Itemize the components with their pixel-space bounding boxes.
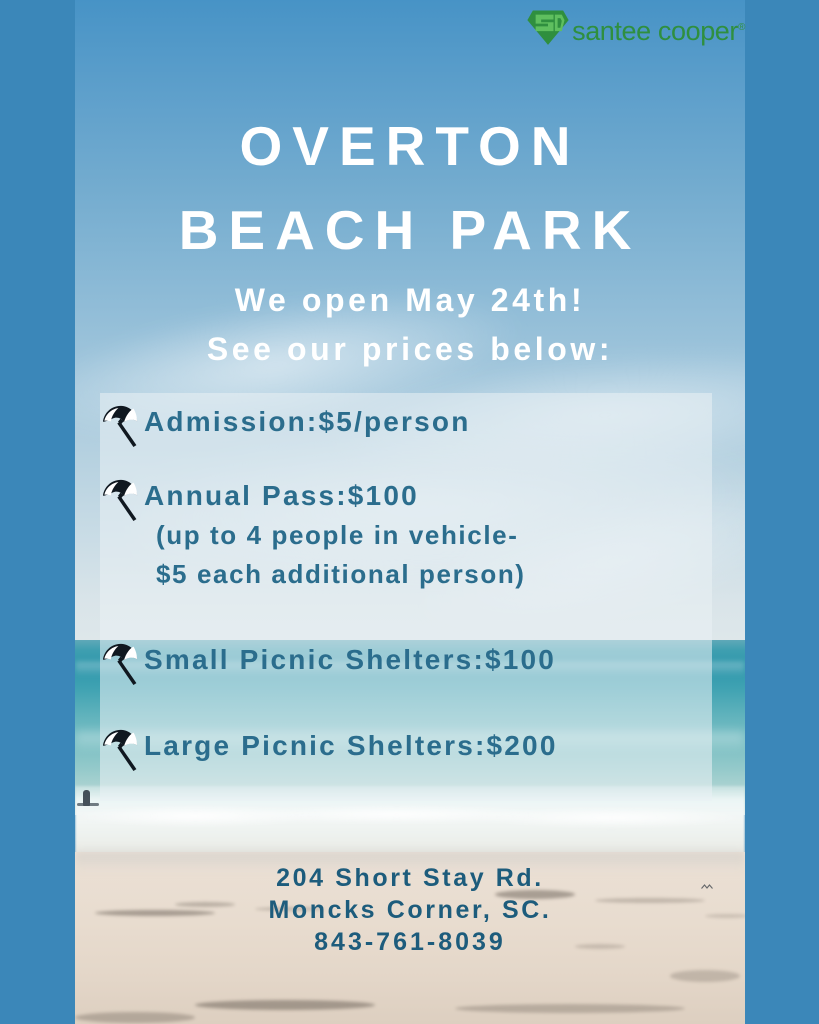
registered-mark: ® <box>738 22 745 33</box>
beach-umbrella-icon <box>100 478 142 522</box>
price-note-line-1: (up to 4 people in vehicle- <box>156 516 526 555</box>
price-note-line-2: $5 each additional person) <box>156 555 526 594</box>
subtitle-line-2: See our prices below: <box>75 325 745 374</box>
phone-number[interactable]: 843-761-8039 <box>75 926 745 958</box>
santee-cooper-logo[interactable]: santee cooper® <box>526 6 745 48</box>
price-text: Large Picnic Shelters:$200 <box>144 726 558 766</box>
price-row-admission: Admission:$5/person <box>100 402 740 448</box>
contact-info: 204 Short Stay Rd. Moncks Corner, SC. 84… <box>75 862 745 958</box>
sand-debris <box>670 970 740 982</box>
sand-debris <box>75 1012 195 1023</box>
price-label: Small Picnic Shelters:$100 <box>144 640 556 680</box>
sand-debris <box>195 1000 375 1010</box>
beach-umbrella-icon <box>100 404 142 448</box>
title-line-1: OVERTON <box>75 104 745 188</box>
santee-cooper-diamond-icon <box>526 6 570 48</box>
beach-umbrella-icon <box>100 642 142 686</box>
wordmark-text: santee cooper <box>572 16 738 46</box>
price-label: Admission:$5/person <box>144 402 471 442</box>
surf-foam <box>75 800 745 832</box>
subtitle: We open May 24th! See our prices below: <box>75 276 745 374</box>
page-title: OVERTON BEACH PARK <box>75 104 745 272</box>
price-label: Large Picnic Shelters:$200 <box>144 726 558 766</box>
sand-debris <box>455 1004 685 1013</box>
price-text: Small Picnic Shelters:$100 <box>144 640 556 680</box>
price-text: Admission:$5/person <box>144 402 471 442</box>
surfer-silhouette <box>83 790 90 806</box>
price-row-small-shelter: Small Picnic Shelters:$100 <box>100 640 740 686</box>
beach-umbrella-icon <box>100 728 142 772</box>
address-line-1: 204 Short Stay Rd. <box>75 862 745 894</box>
price-row-large-shelter: Large Picnic Shelters:$200 <box>100 726 740 772</box>
title-line-2: BEACH PARK <box>75 188 745 272</box>
price-list: Admission:$5/person Annual Pass:$100 (up… <box>100 402 740 800</box>
address-line-2: Moncks Corner, SC. <box>75 894 745 926</box>
poster-flyer: santee cooper® OVERTON BEACH PARK We ope… <box>0 0 819 1024</box>
subtitle-line-1: We open May 24th! <box>75 276 745 325</box>
price-text: Annual Pass:$100 (up to 4 people in vehi… <box>144 476 526 594</box>
price-row-annual-pass: Annual Pass:$100 (up to 4 people in vehi… <box>100 476 740 594</box>
santee-cooper-wordmark: santee cooper® <box>572 18 745 45</box>
price-label: Annual Pass:$100 <box>144 476 526 516</box>
